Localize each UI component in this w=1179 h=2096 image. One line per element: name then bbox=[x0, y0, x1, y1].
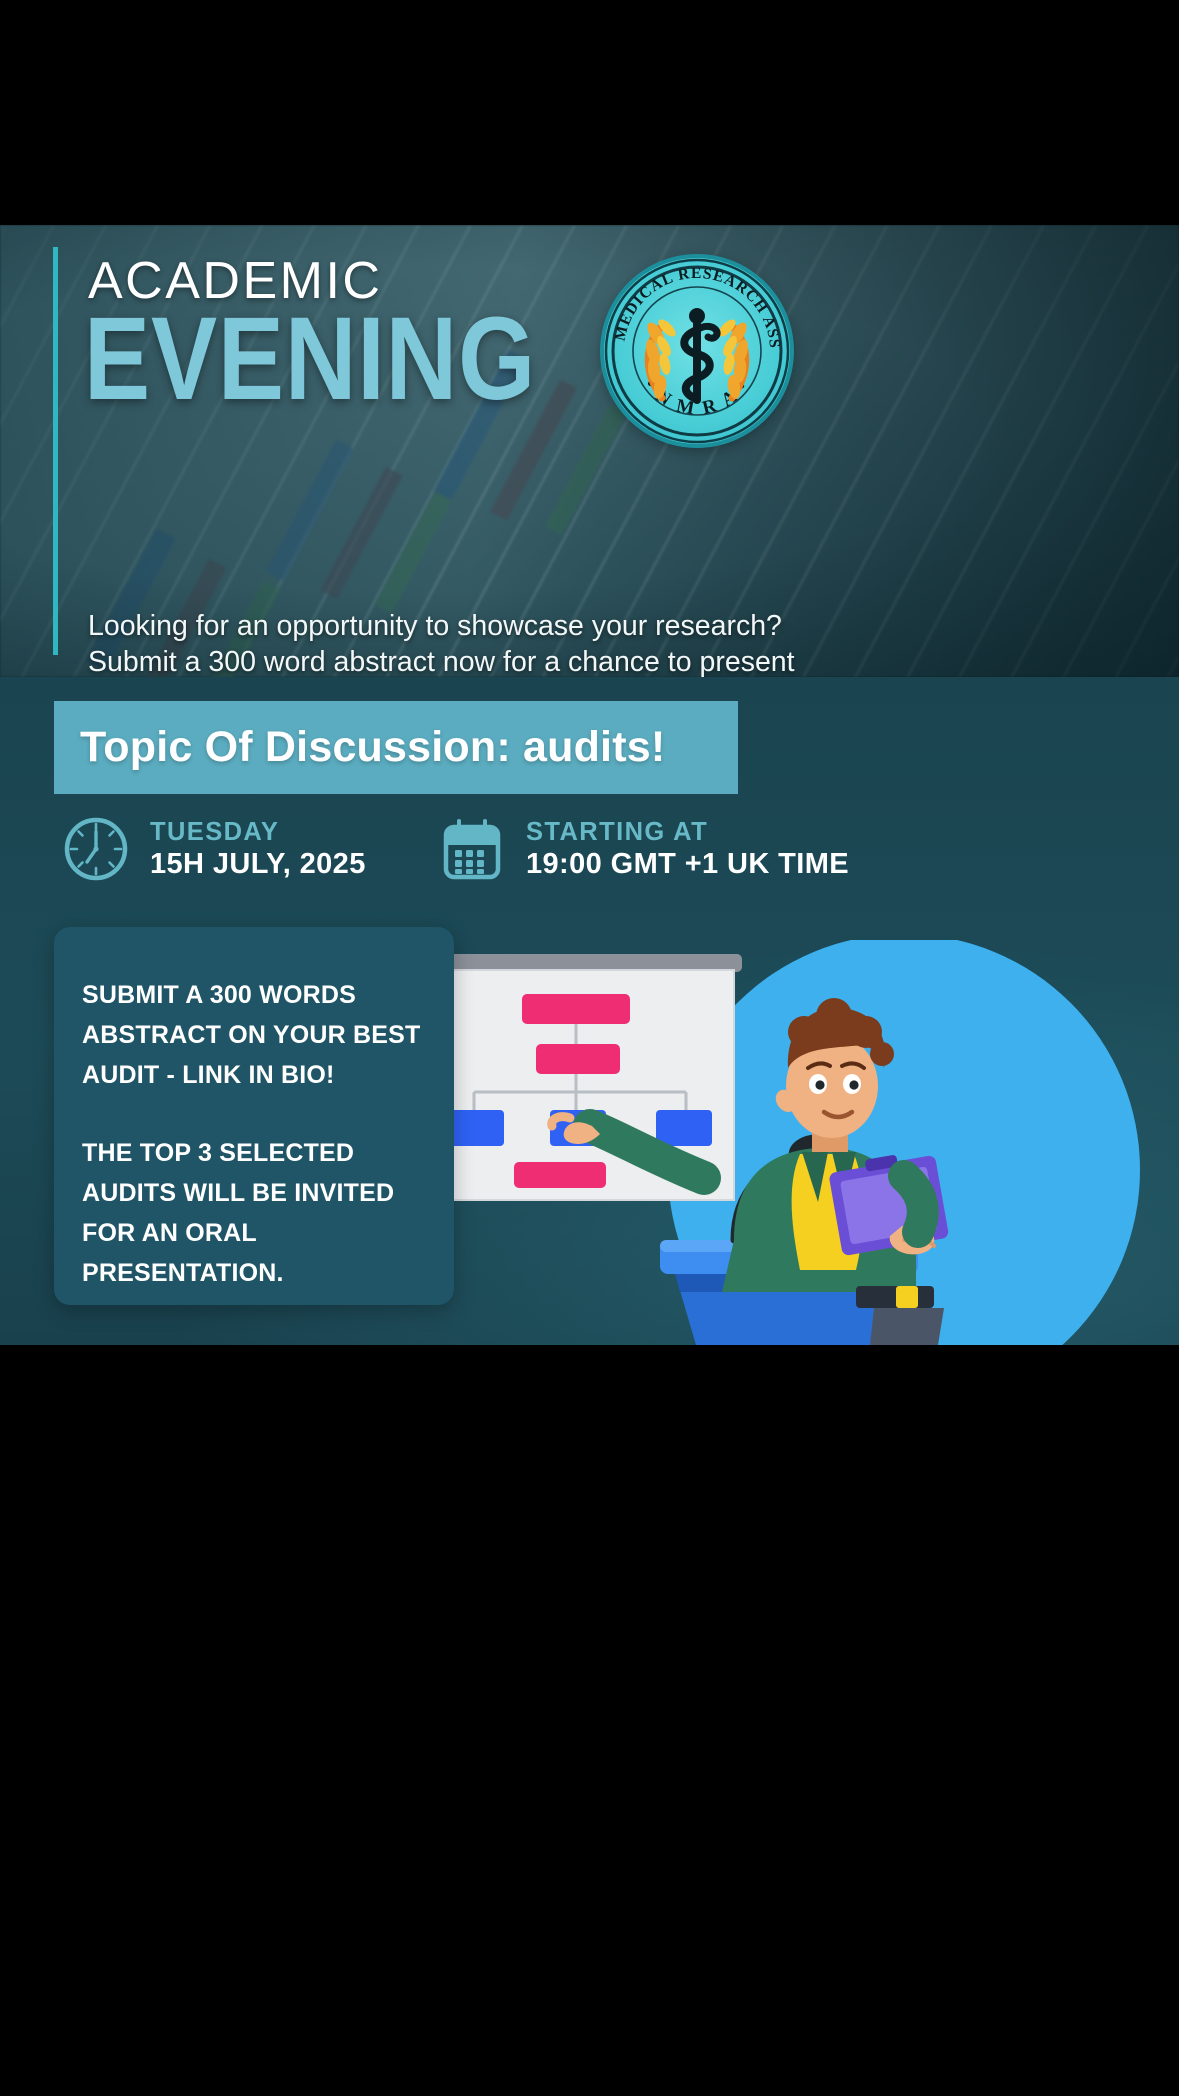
card-p2-line4: PRESENTATION. bbox=[82, 1259, 284, 1287]
card-paragraph-2: THE TOP 3 SELECTED AUDITS WILL BE INVITE… bbox=[82, 1133, 454, 1293]
event-date-block: TUESDAY 15H JULY, 2025 bbox=[62, 815, 366, 883]
event-date-value: 15H JULY, 2025 bbox=[150, 847, 366, 881]
letterbox-bottom bbox=[0, 1345, 1179, 2096]
topic-banner: Topic Of Discussion: audits! bbox=[54, 701, 738, 794]
card-spacer bbox=[82, 1095, 454, 1133]
calendar-icon bbox=[438, 815, 506, 883]
card-p2-line2: AUDITS WILL BE INVITED bbox=[82, 1179, 394, 1207]
event-info-row: TUESDAY 15H JULY, 2025 bbox=[54, 815, 1124, 901]
card-p1-line3: AUDIT - LINK IN BIO! bbox=[82, 1061, 335, 1089]
card-p2-line1: THE TOP 3 SELECTED bbox=[82, 1139, 354, 1167]
card-p1-line2: ABSTRACT ON YOUR BEST bbox=[82, 1021, 420, 1049]
presenter-illustration bbox=[404, 940, 1179, 1345]
topic-banner-text: Topic Of Discussion: audits! bbox=[54, 723, 665, 772]
instructions-card: SUBMIT A 300 WORDS ABSTRACT ON YOUR BEST… bbox=[54, 927, 454, 1305]
event-day-label: TUESDAY bbox=[150, 817, 366, 847]
event-time-value: 19:00 GMT +1 UK TIME bbox=[526, 847, 849, 881]
poster-canvas: ACADEMIC EVENING NATIONAL MEDICAL RESEAR… bbox=[0, 0, 1179, 2096]
para-line-2: Submit a 300 word abstract now for a cha… bbox=[88, 646, 795, 678]
nmra-logo: NATIONAL MEDICAL RESEARCH ASSOCIATION • … bbox=[604, 258, 790, 444]
event-start-label: STARTING AT bbox=[526, 817, 849, 847]
card-p1-line1: SUBMIT A 300 WORDS bbox=[82, 981, 356, 1009]
card-paragraph-1: SUBMIT A 300 WORDS ABSTRACT ON YOUR BEST… bbox=[82, 975, 454, 1095]
left-accent-line bbox=[53, 247, 58, 655]
clock-icon bbox=[62, 815, 130, 883]
para-line-1: Looking for an opportunity to showcase y… bbox=[88, 610, 782, 642]
event-time-block: STARTING AT 19:00 GMT +1 UK TIME bbox=[438, 815, 849, 883]
page-title: EVENING bbox=[84, 305, 536, 414]
letterbox-top bbox=[0, 0, 1179, 225]
card-p2-line3: FOR AN ORAL bbox=[82, 1219, 257, 1247]
